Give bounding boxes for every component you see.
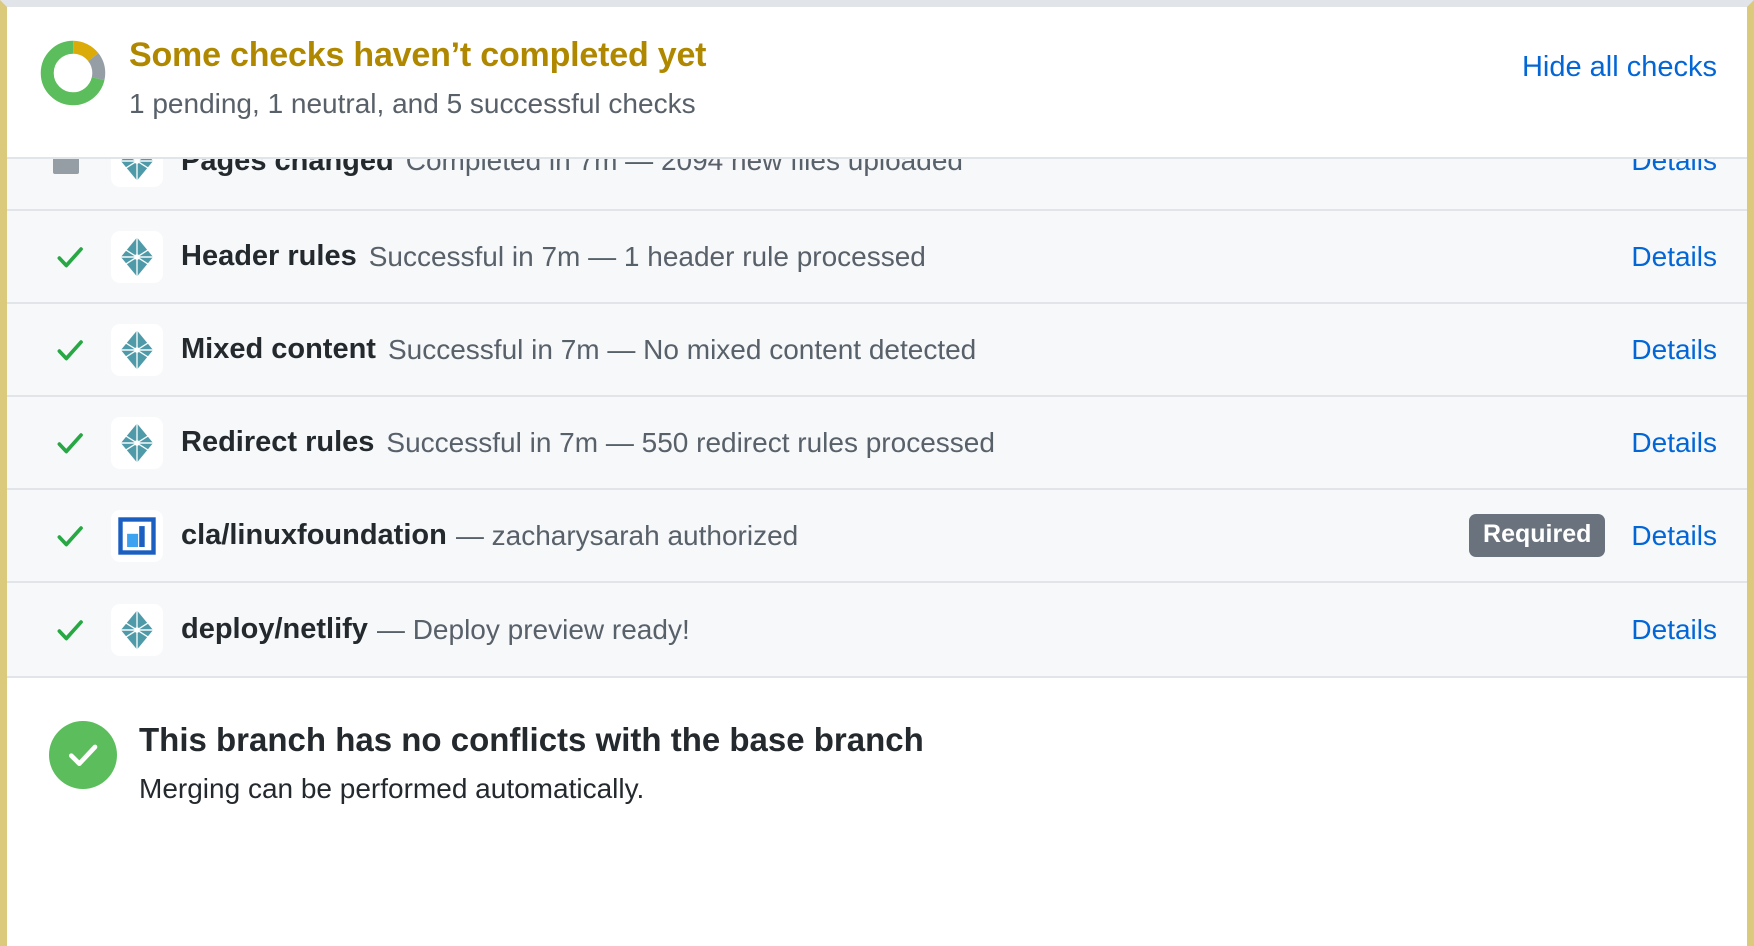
netlify-diamond-icon	[111, 604, 163, 656]
donut-segment-success	[47, 47, 99, 99]
required-badge: Required	[1469, 514, 1605, 557]
check-mark-icon	[53, 613, 111, 647]
check-description: Successful in 7m — No mixed content dete…	[388, 334, 976, 366]
check-description: Successful in 7m — 1 header rule process…	[369, 241, 926, 273]
branch-conflict-subtitle: Merging can be performed automatically.	[139, 771, 924, 806]
table-row[interactable]: Header rules Successful in 7m — 1 header…	[7, 211, 1747, 304]
table-row[interactable]: Pages changed Completed in 7m — 2094 new…	[7, 159, 1747, 211]
check-mark-icon	[53, 519, 111, 553]
check-name: deploy/netlify	[181, 613, 368, 646]
check-description: — Deploy preview ready!	[377, 614, 690, 646]
details-link[interactable]: Details	[1631, 427, 1717, 459]
check-name: Header rules	[181, 240, 357, 273]
checks-donut-chart	[39, 39, 107, 107]
details-link[interactable]: Details	[1631, 520, 1717, 552]
table-row[interactable]: Redirect rules Successful in 7m — 550 re…	[7, 397, 1747, 490]
check-description: Successful in 7m — 550 redirect rules pr…	[386, 427, 995, 459]
merge-status-box: Some checks haven’t completed yet 1 pend…	[0, 0, 1754, 946]
checks-header-subtitle: 1 pending, 1 neutral, and 5 successful c…	[129, 86, 1717, 121]
table-row[interactable]: cla/linuxfoundation — zacharysarah autho…	[7, 490, 1747, 583]
hide-all-checks-link[interactable]: Hide all checks	[1522, 51, 1717, 84]
check-name: Redirect rules	[181, 426, 374, 459]
table-row[interactable]: deploy/netlify — Deploy preview ready! D…	[7, 583, 1747, 676]
check-description: Completed in 7m — 2094 new files uploade…	[406, 159, 963, 177]
check-description: — zacharysarah authorized	[456, 520, 798, 552]
check-name: Pages changed	[181, 159, 394, 178]
details-link[interactable]: Details	[1631, 159, 1717, 177]
check-mark-icon	[53, 240, 111, 274]
netlify-diamond-icon	[111, 324, 163, 376]
branch-conflict-title: This branch has no conflicts with the ba…	[139, 719, 924, 760]
checks-header-texts: Some checks haven’t completed yet 1 pend…	[129, 33, 1717, 121]
check-name: cla/linuxfoundation	[181, 519, 447, 552]
checks-header-title: Some checks haven’t completed yet	[129, 35, 1717, 76]
linux-foundation-cla-icon	[111, 510, 163, 562]
checks-list: Pages changed Completed in 7m — 2094 new…	[7, 157, 1747, 676]
table-row[interactable]: Mixed content Successful in 7m — No mixe…	[7, 304, 1747, 397]
check-mark-icon	[53, 333, 111, 367]
branch-conflict-texts: This branch has no conflicts with the ba…	[139, 718, 924, 806]
branch-conflict-status: This branch has no conflicts with the ba…	[7, 676, 1747, 846]
check-mark-icon	[53, 426, 111, 460]
details-link[interactable]: Details	[1631, 241, 1717, 273]
check-name: Mixed content	[181, 333, 376, 366]
netlify-diamond-icon	[111, 159, 163, 187]
details-link[interactable]: Details	[1631, 334, 1717, 366]
netlify-diamond-icon	[111, 417, 163, 469]
netlify-diamond-icon	[111, 231, 163, 283]
details-link[interactable]: Details	[1631, 614, 1717, 646]
checks-header: Some checks haven’t completed yet 1 pend…	[7, 7, 1747, 157]
check-circle-icon	[49, 721, 117, 789]
neutral-square-icon	[53, 159, 111, 174]
